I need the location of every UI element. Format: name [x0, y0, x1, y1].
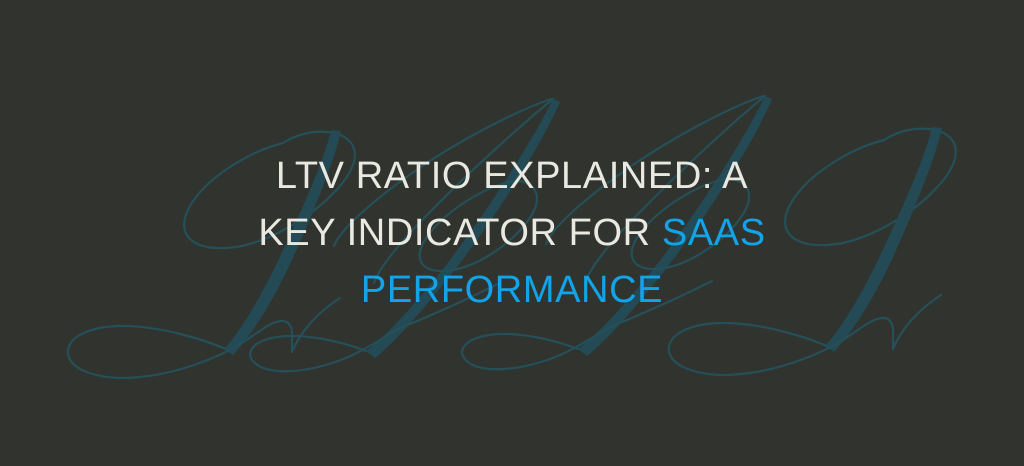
headline-line-1: LTV RATIO EXPLAINED: A — [276, 148, 748, 205]
headline-line-3: PERFORMANCE — [361, 262, 663, 319]
headline-line-2: KEY INDICATOR FOR SAAS — [258, 205, 765, 262]
headline-line-1-text: LTV RATIO EXPLAINED: A — [276, 155, 748, 197]
headline-line-2-text-light: KEY INDICATOR FOR — [258, 212, 662, 254]
headline-block: LTV RATIO EXPLAINED: A KEY INDICATOR FOR… — [0, 0, 1024, 466]
headline-line-3-text-accent: PERFORMANCE — [361, 269, 663, 311]
headline-line-2-text-accent: SAAS — [662, 212, 766, 254]
article-hero-banner: LTV RATIO EXPLAINED: A KEY INDICATOR FOR… — [0, 0, 1024, 466]
